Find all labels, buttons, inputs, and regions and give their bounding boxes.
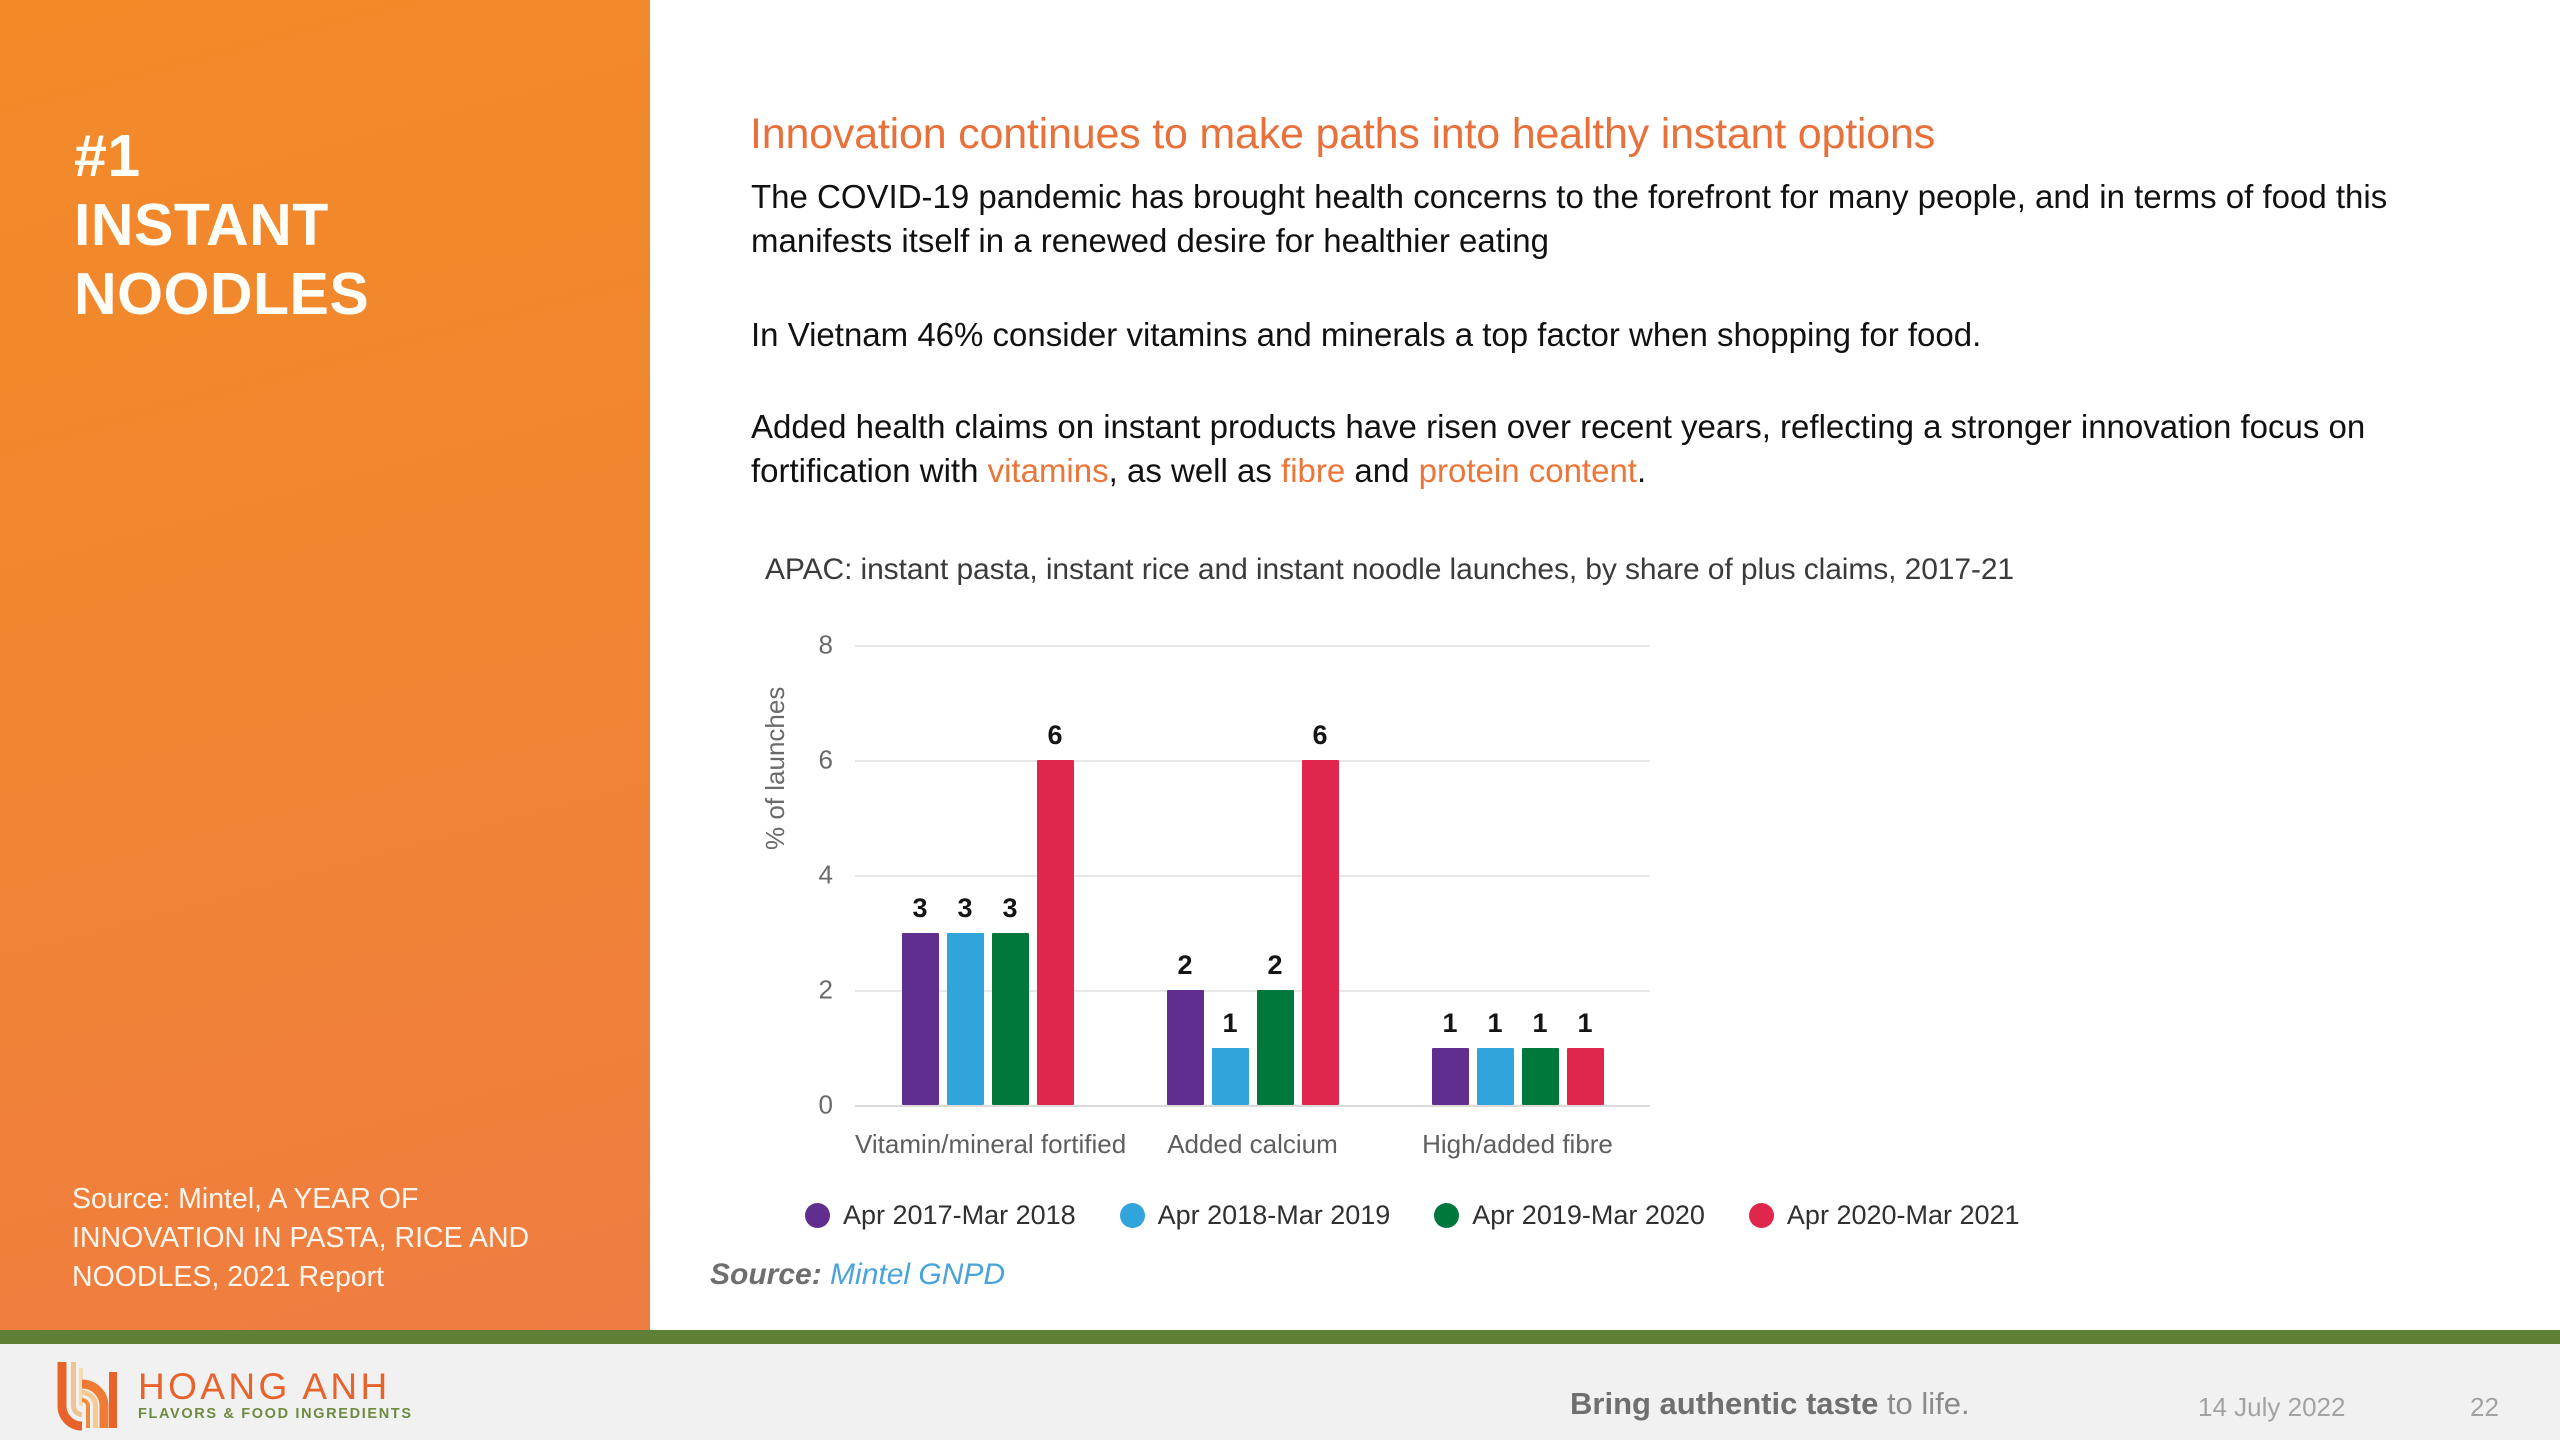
chart-category-label: Added calcium: [1120, 1129, 1385, 1160]
chart-legend-item[interactable]: Apr 2020-Mar 2021: [1749, 1200, 2020, 1231]
chart-source-label: Source:: [710, 1258, 822, 1291]
chart-bar-slot: 1: [1522, 645, 1559, 1105]
chart-bar-value-label: 6: [1047, 720, 1062, 751]
highlight-vitamins: vitamins: [988, 452, 1109, 489]
body-paragraph-3: Added health claims on instant products …: [751, 405, 2481, 493]
chart-bar-value-label: 1: [1577, 1008, 1592, 1039]
chart-bar-slot: 3: [902, 645, 939, 1105]
chart-bar-slot: 3: [947, 645, 984, 1105]
slide-canvas: #1 INSTANT NOODLES Source: Mintel, A YEA…: [0, 0, 2560, 1440]
chart-bar-value-label: 1: [1487, 1008, 1502, 1039]
section-title-line-1: INSTANT: [74, 191, 614, 260]
page-title: Innovation continues to make paths into …: [750, 110, 2470, 158]
chart-source-value[interactable]: Mintel GNPD: [830, 1258, 1005, 1291]
chart-bar[interactable]: [1432, 1048, 1469, 1106]
chart-category-label: Vitamin/mineral fortified: [855, 1129, 1120, 1160]
chart-bar-slot: 2: [1257, 645, 1294, 1105]
chart-plot-area: 02468 3336Vitamin/mineral fortified2126A…: [855, 645, 1650, 1105]
chart-bar[interactable]: [947, 933, 984, 1106]
footer-tagline-bold: Bring authentic taste: [1570, 1386, 1878, 1421]
chart-category-label: High/added fibre: [1385, 1129, 1650, 1160]
sidebar-source-note: Source: Mintel, A YEAR OF INNOVATION IN …: [72, 1180, 592, 1297]
chart-bar-value-label: 6: [1312, 720, 1327, 751]
chart-legend-item[interactable]: Apr 2017-Mar 2018: [805, 1200, 1076, 1231]
chart-bars: 1111: [1385, 645, 1650, 1105]
chart-source-line: Source: Mintel GNPD: [710, 1258, 1005, 1292]
chart-bar-group: 3336Vitamin/mineral fortified: [855, 645, 1120, 1105]
footer-accent-bar: [0, 1330, 2560, 1344]
highlight-fibre: fibre: [1281, 452, 1345, 489]
footer-tagline: Bring authentic taste to life.: [1570, 1386, 1970, 1422]
chart-legend-swatch-icon: [1434, 1203, 1459, 1228]
chart-bar[interactable]: [992, 933, 1029, 1106]
chart-bar[interactable]: [1477, 1048, 1514, 1106]
chart-bar-slot: 6: [1302, 645, 1339, 1105]
chart-legend-label: Apr 2019-Mar 2020: [1472, 1200, 1705, 1231]
logo-company-name: HOANG ANH: [138, 1368, 413, 1405]
chart-bar-value-label: 3: [912, 893, 927, 924]
footer-date: 14 July 2022: [2198, 1392, 2345, 1423]
chart-bar-slot: 3: [992, 645, 1029, 1105]
chart-y-tick-label: 8: [819, 630, 833, 661]
bar-chart: APAC: instant pasta, instant rice and in…: [650, 540, 2250, 1330]
chart-legend-swatch-icon: [1120, 1203, 1145, 1228]
chart-bar-value-label: 1: [1532, 1008, 1547, 1039]
section-title-line-2: NOODLES: [74, 260, 614, 329]
body-paragraph-1: The COVID-19 pandemic has brought health…: [751, 175, 2481, 263]
chart-bar-group: 2126Added calcium: [1120, 645, 1385, 1105]
chart-legend-label: Apr 2017-Mar 2018: [843, 1200, 1076, 1231]
left-title-panel: #1 INSTANT NOODLES Source: Mintel, A YEA…: [0, 0, 650, 1330]
chart-legend-label: Apr 2020-Mar 2021: [1787, 1200, 2020, 1231]
chart-legend-item[interactable]: Apr 2019-Mar 2020: [1434, 1200, 1705, 1231]
chart-bars: 3336: [855, 645, 1120, 1105]
chart-bar-groups: 3336Vitamin/mineral fortified2126Added c…: [855, 645, 1650, 1105]
chart-y-axis-label: % of launches: [760, 687, 791, 850]
chart-legend-item[interactable]: Apr 2018-Mar 2019: [1120, 1200, 1391, 1231]
chart-legend-swatch-icon: [1749, 1203, 1774, 1228]
chart-y-tick-label: 0: [819, 1090, 833, 1121]
footer-page-number: 22: [2470, 1392, 2499, 1423]
paragraph-3-text-d: .: [1637, 452, 1646, 489]
chart-bar-slot: 2: [1167, 645, 1204, 1105]
chart-title: APAC: instant pasta, instant rice and in…: [765, 553, 2014, 587]
chart-bar-value-label: 2: [1267, 950, 1282, 981]
chart-legend-label: Apr 2018-Mar 2019: [1158, 1200, 1391, 1231]
chart-bar-value-label: 1: [1222, 1008, 1237, 1039]
hoang-anh-mark-icon: [52, 1358, 124, 1432]
paragraph-3-text-b: , as well as: [1109, 452, 1281, 489]
logo-company-tagline: FLAVORS & FOOD INGREDIENTS: [138, 1407, 413, 1422]
chart-bar-group: 1111High/added fibre: [1385, 645, 1650, 1105]
chart-bar[interactable]: [1037, 760, 1074, 1105]
chart-bars: 2126: [1120, 645, 1385, 1105]
slide-section-title: #1 INSTANT NOODLES: [74, 122, 614, 329]
chart-bar[interactable]: [1522, 1048, 1559, 1106]
highlight-protein-content: protein content: [1419, 452, 1637, 489]
chart-bar-value-label: 1: [1442, 1008, 1457, 1039]
company-logo: HOANG ANH FLAVORS & FOOD INGREDIENTS: [52, 1358, 413, 1432]
chart-legend: Apr 2017-Mar 2018Apr 2018-Mar 2019Apr 20…: [805, 1200, 2020, 1231]
chart-y-tick-label: 2: [819, 975, 833, 1006]
paragraph-3-text-c: and: [1345, 452, 1418, 489]
chart-y-tick-label: 6: [819, 745, 833, 776]
chart-bar-slot: 1: [1477, 645, 1514, 1105]
chart-bar[interactable]: [1567, 1048, 1604, 1106]
chart-plot-wrapper: % of launches 02468 3336Vitamin/mineral …: [650, 635, 2250, 1220]
chart-bar-slot: 1: [1432, 645, 1469, 1105]
logo-wordmark: HOANG ANH FLAVORS & FOOD INGREDIENTS: [138, 1368, 413, 1422]
chart-bar-slot: 1: [1212, 645, 1249, 1105]
footer-tagline-rest: to life.: [1878, 1386, 1969, 1421]
chart-bar[interactable]: [1257, 990, 1294, 1105]
chart-bar-slot: 1: [1567, 645, 1604, 1105]
body-paragraph-2: In Vietnam 46% consider vitamins and min…: [751, 313, 2481, 357]
chart-bar-value-label: 3: [957, 893, 972, 924]
chart-y-tick-label: 4: [819, 860, 833, 891]
chart-bar-value-label: 3: [1002, 893, 1017, 924]
chart-bar[interactable]: [1302, 760, 1339, 1105]
chart-gridline: 0: [855, 1105, 1650, 1107]
chart-bar-value-label: 2: [1177, 950, 1192, 981]
chart-bar-slot: 6: [1037, 645, 1074, 1105]
rank-label: #1: [74, 122, 614, 191]
chart-legend-swatch-icon: [805, 1203, 830, 1228]
chart-bar[interactable]: [1212, 1048, 1249, 1106]
chart-bar[interactable]: [902, 933, 939, 1106]
chart-bar[interactable]: [1167, 990, 1204, 1105]
